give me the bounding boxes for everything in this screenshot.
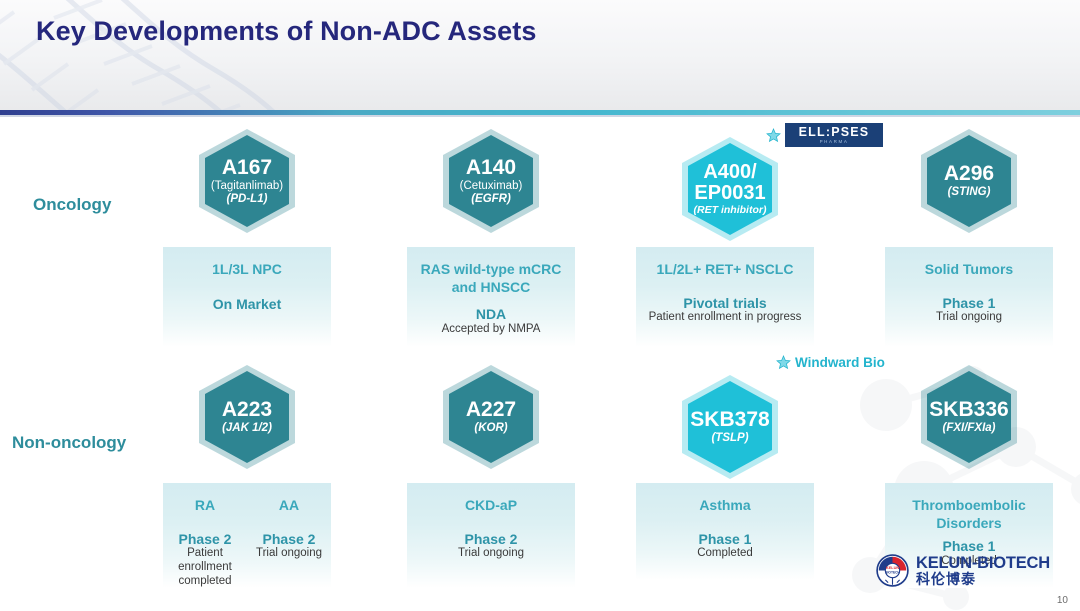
panel-indication: Thromboembolic Disorders: [885, 497, 1053, 532]
hexagon-a227[interactable]: A227 (KOR): [443, 365, 539, 469]
page-title: Key Developments of Non-ADC Assets: [36, 16, 537, 47]
info-panel-a296: Solid Tumors Phase 1 Trial ongoing: [885, 247, 1053, 347]
asset-target: (TSLP): [711, 432, 748, 444]
panel-note: Trial ongoing: [885, 311, 1053, 325]
asset-target: (JAK 1/2): [222, 422, 272, 434]
panel-indication: CKD-aP: [407, 497, 575, 515]
hexagon-label-group: A227 (KOR): [443, 365, 539, 469]
hexagon-a296[interactable]: A296 (STING): [921, 129, 1017, 233]
kelun-emblem-icon: KELUN BIOTECH: [876, 554, 909, 587]
asset-code: A167: [222, 157, 272, 180]
asset-code: A400/ EP0031: [684, 162, 776, 205]
asset-target: (KOR): [474, 422, 507, 434]
hexagon-label-group: A167 (Tagitanlimab) (PD-L1): [199, 129, 295, 233]
row-label-oncology: Oncology: [33, 195, 111, 215]
panel-phase: Pivotal trials: [636, 295, 814, 312]
panel-phase: Phase 2: [251, 531, 327, 548]
info-panel-a227: CKD-aP Phase 2 Trial ongoing: [407, 483, 575, 588]
asset-target: (STING): [948, 186, 991, 198]
panel-phase: Phase 2: [407, 531, 575, 548]
hexagon-skb336[interactable]: SKB336 (FXI/FXIa): [921, 365, 1017, 469]
kelun-biotech-logo: KELUN BIOTECH KELUN-BIOTECH 科伦博泰: [876, 554, 1050, 587]
panel-indication: Solid Tumors: [885, 261, 1053, 279]
panel-indication: AA: [251, 497, 327, 515]
asset-code: A296: [944, 163, 994, 186]
asset-inn: (Tagitanlimab): [211, 180, 283, 192]
asset-code: A140: [466, 157, 516, 180]
panel-phase: On Market: [163, 296, 331, 313]
panel-phase: Phase 2: [167, 531, 243, 548]
asset-inn: (Cetuximab): [460, 180, 523, 192]
panel-note: Trial ongoing: [407, 547, 575, 561]
ellipses-pharma-logo: ELL:PSES PHARMA: [785, 123, 883, 147]
panel-note: Patient enrollment in progress: [636, 311, 814, 325]
ellipses-wordmark: ELL:PSES: [799, 126, 870, 139]
svg-text:KELUN: KELUN: [886, 566, 899, 570]
asset-target: (RET inhibitor): [694, 205, 767, 216]
panel-indication: 1L/3L NPC: [163, 261, 331, 279]
hexagon-a400[interactable]: A400/ EP0031 (RET inhibitor): [682, 137, 778, 241]
info-panel-a400: 1L/2L+ RET+ NSCLC Pivotal trials Patient…: [636, 247, 814, 347]
hexagon-a167[interactable]: A167 (Tagitanlimab) (PD-L1): [199, 129, 295, 233]
row-label-non-oncology: Non-oncology: [12, 433, 126, 453]
info-panel-skb378: Asthma Phase 1 Completed: [636, 483, 814, 580]
star-icon: [776, 355, 791, 370]
panel-note: Trial ongoing: [251, 547, 327, 561]
asset-code: A223: [222, 399, 272, 422]
panel-indication: RA: [167, 497, 243, 515]
panel-phase: NDA: [407, 306, 575, 323]
info-panel-a223: RA Phase 2 Patient enrollment completed …: [163, 483, 331, 588]
info-panel-a140: RAS wild-type mCRC and HNSCC NDA Accepte…: [407, 247, 575, 347]
panel-column-ra: RA Phase 2 Patient enrollment completed: [163, 497, 247, 589]
asset-code: SKB378: [690, 409, 769, 432]
info-panel-a167: 1L/3L NPC On Market: [163, 247, 331, 347]
partner-badge-ellipses[interactable]: ELL:PSES PHARMA: [766, 123, 883, 147]
panel-note: Patient enrollment completed: [167, 547, 243, 588]
panel-indication: Asthma: [636, 497, 814, 515]
panel-indication: RAS wild-type mCRC and HNSCC: [407, 261, 575, 296]
partner-name: Windward Bio: [795, 355, 885, 370]
company-name-cn: 科伦博泰: [916, 572, 1050, 587]
slide-header: Key Developments of Non-ADC Assets: [0, 0, 1080, 110]
partner-badge-windward-bio[interactable]: Windward Bio: [776, 355, 885, 370]
panel-phase: Phase 1: [885, 295, 1053, 312]
kelun-wordmark: KELUN-BIOTECH 科伦博泰: [916, 555, 1050, 587]
hexagon-a140[interactable]: A140 (Cetuximab) (EGFR): [443, 129, 539, 233]
company-name-en: KELUN-BIOTECH: [916, 555, 1050, 572]
asset-target: (FXI/FXIa): [942, 422, 995, 434]
svg-text:BIOTECH: BIOTECH: [885, 570, 900, 574]
ellipses-subtitle: PHARMA: [820, 140, 849, 145]
hexagon-label-group: SKB336 (FXI/FXIa): [921, 365, 1017, 469]
hexagon-label-group: SKB378 (TSLP): [682, 375, 778, 479]
panel-phase: Phase 1: [636, 531, 814, 548]
panel-note: Accepted by NMPA: [407, 323, 575, 337]
panel-indication: 1L/2L+ RET+ NSCLC: [636, 261, 814, 279]
hexagon-label-group: A400/ EP0031 (RET inhibitor): [682, 137, 778, 241]
panel-note: Completed: [636, 547, 814, 561]
asset-target: (EGFR): [471, 193, 511, 205]
panel-phase: Phase 1: [885, 538, 1053, 555]
hexagon-skb378[interactable]: SKB378 (TSLP): [682, 375, 778, 479]
hexagon-label-group: A223 (JAK 1/2): [199, 365, 295, 469]
asset-code: SKB336: [929, 399, 1008, 422]
hexagon-label-group: A140 (Cetuximab) (EGFR): [443, 129, 539, 233]
slide-body: Oncology Non-oncology A167 (Tagitanlimab…: [0, 117, 1080, 611]
hexagon-a223[interactable]: A223 (JAK 1/2): [199, 365, 295, 469]
asset-target: (PD-L1): [227, 193, 268, 205]
panel-column-aa: AA Phase 2 Trial ongoing: [247, 497, 331, 561]
hexagon-label-group: A296 (STING): [921, 129, 1017, 233]
page-number: 10: [1057, 595, 1068, 606]
asset-code: A227: [466, 399, 516, 422]
